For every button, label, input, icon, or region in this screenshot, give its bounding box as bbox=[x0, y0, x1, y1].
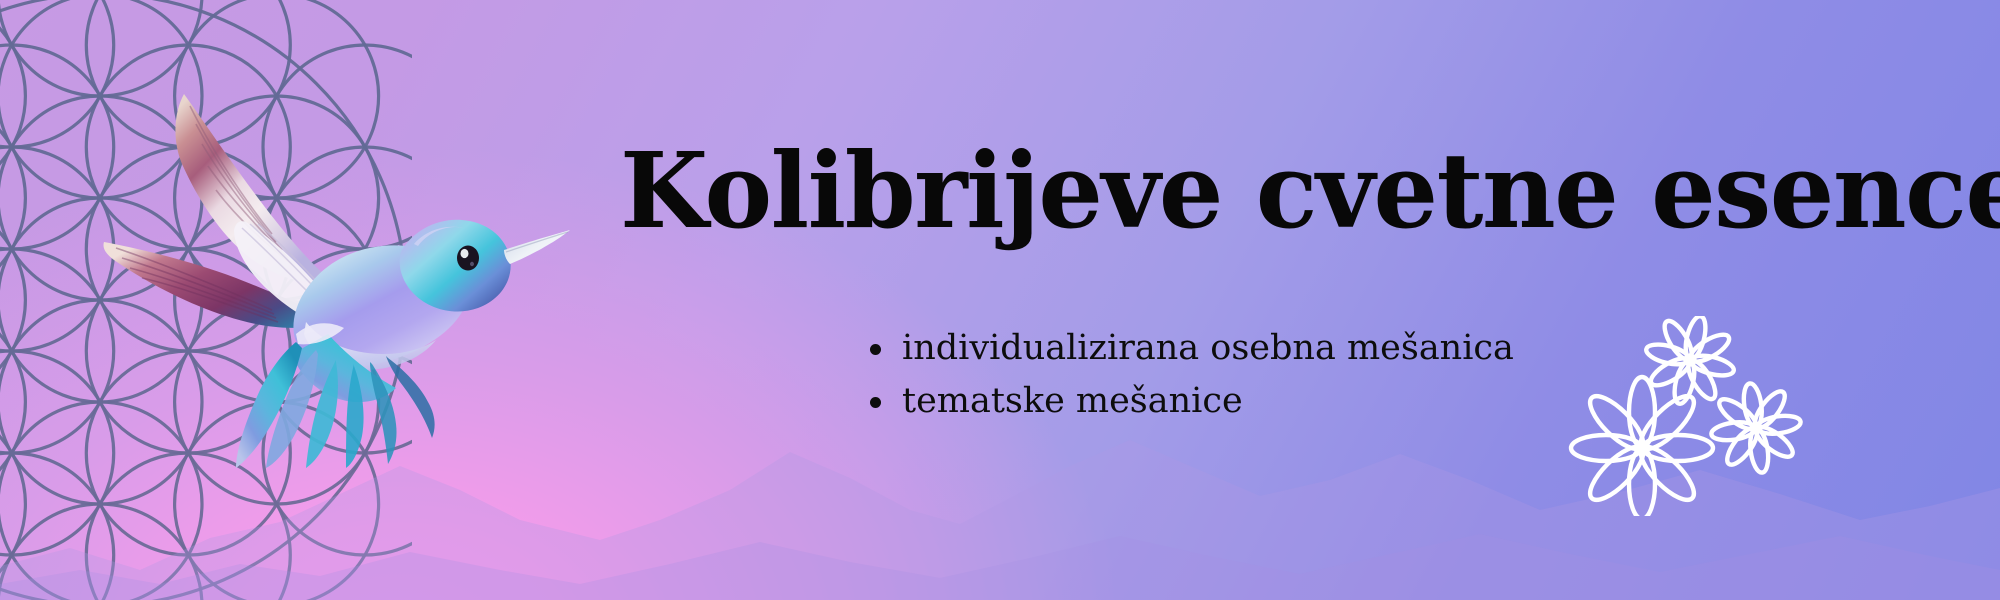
daisy-doodle-icon bbox=[1556, 316, 1816, 516]
flower-of-life-icon bbox=[0, 0, 412, 600]
page-title: Kolibrijeve cvetne esence bbox=[620, 138, 1829, 244]
hero-banner: Kolibrijeve cvetne esence individualizir… bbox=[0, 0, 2000, 600]
list-item: individualizirana osebna mešanica bbox=[866, 322, 1514, 375]
feature-list: individualizirana osebna mešanica temats… bbox=[866, 322, 1514, 428]
list-item: tematske mešanice bbox=[866, 375, 1514, 428]
hummingbird-illustration bbox=[96, 72, 576, 472]
